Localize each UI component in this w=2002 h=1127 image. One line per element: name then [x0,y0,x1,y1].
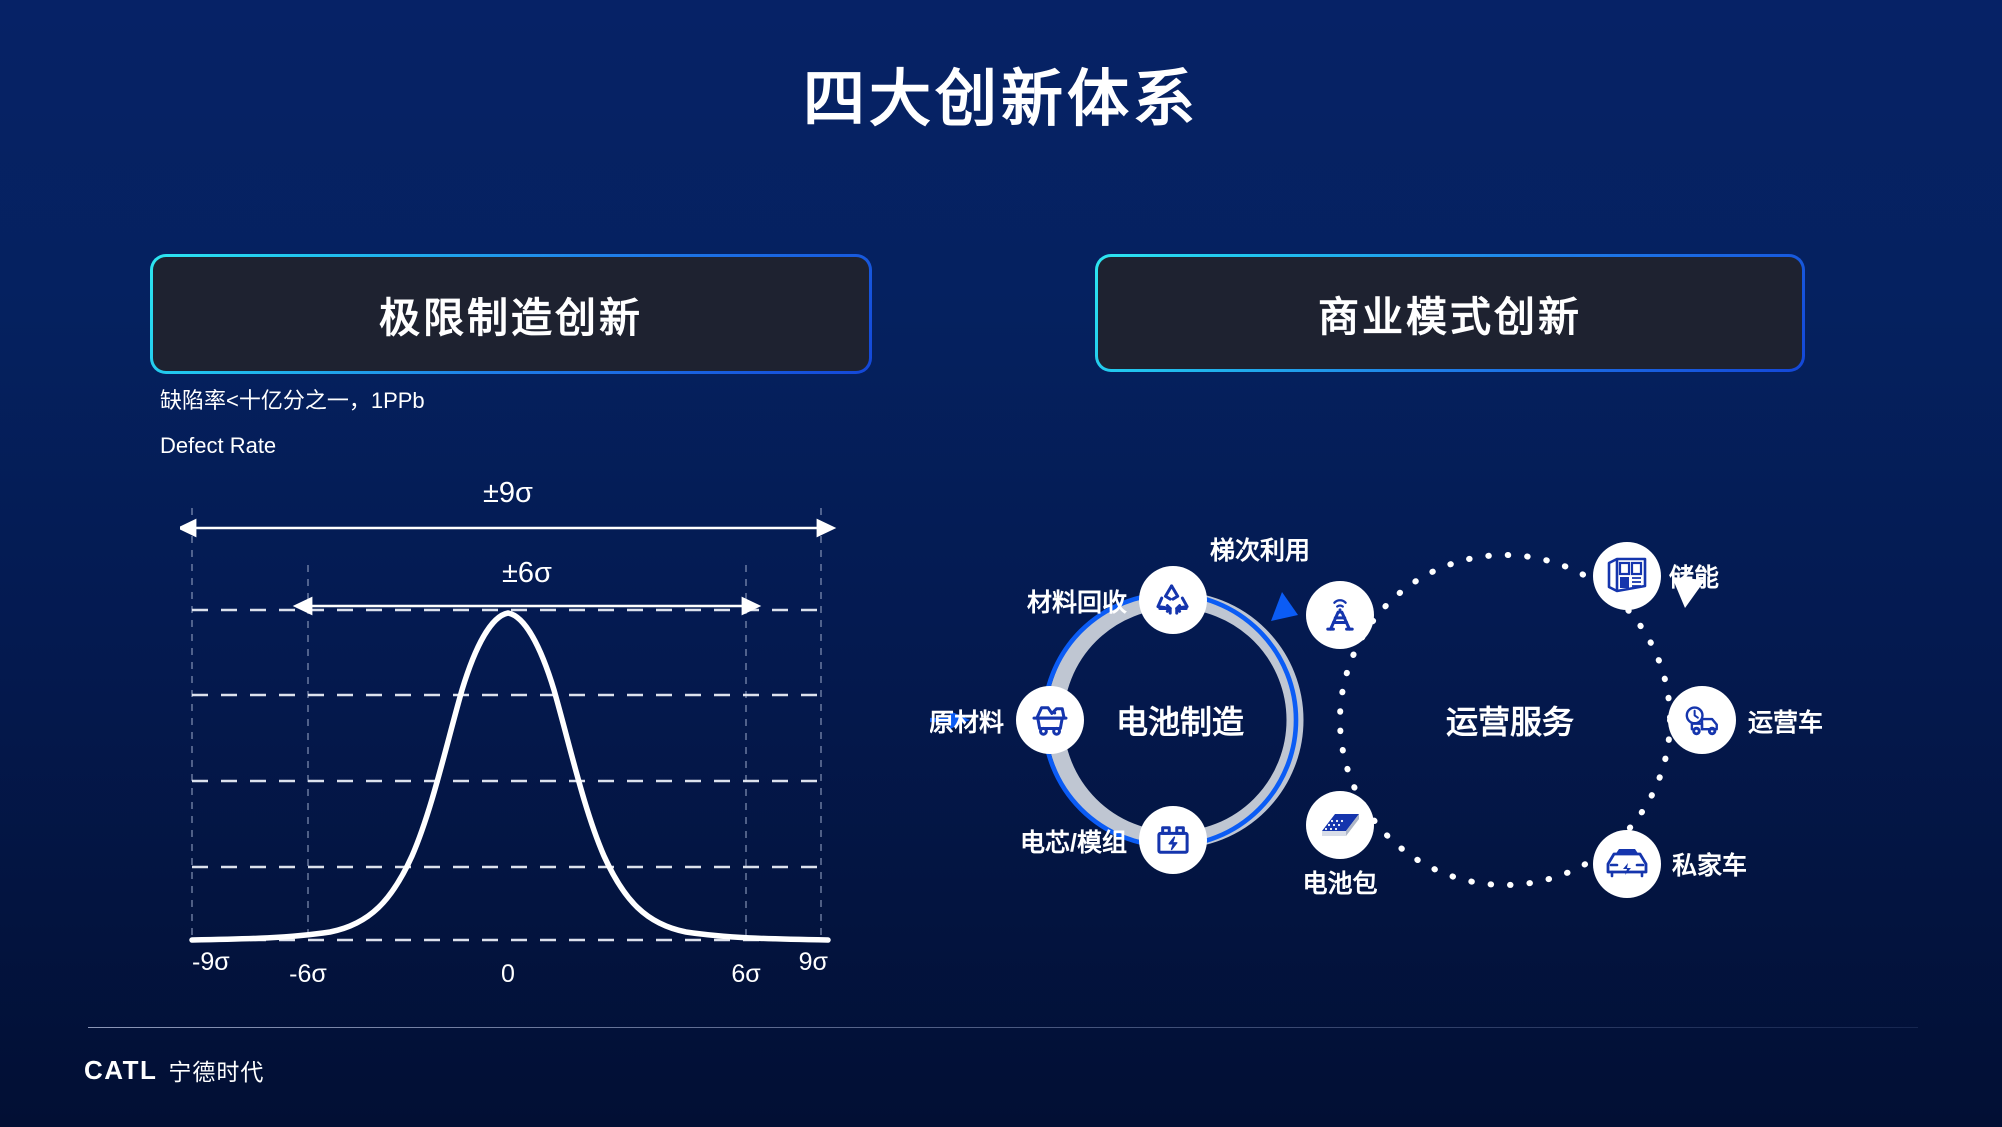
node-private-car-label: 私家车 [1672,851,1747,880]
node-raw-material-label: 原材料 [930,709,1004,737]
label-battery-manufacturing: 电池制造 [1116,704,1244,740]
panel-card-right-title: 商业模式创新 [1318,283,1582,343]
defect-rate-en: Defect Rate [160,435,425,457]
x-tick-zero: 0 [501,960,515,988]
node-energy-storage-label: 储能 [1669,563,1719,592]
node-cascade-use-label: 梯次利用 [1210,537,1310,565]
defect-rate-cn: 缺陷率<十亿分之一，1PPb [160,390,425,412]
node-cascade-use[interactable]: 梯次利用 [1210,537,1374,649]
node-material-recycle-label: 材料回收 [1027,589,1127,617]
battery-lifecycle-diagram: .cn { font-family: "Liberation Sans", sa… [930,520,1940,920]
x-tick-minus6: -6σ [289,960,327,988]
panel-card-left-title: 极限制造创新 [379,284,643,344]
panel-card-extreme-manufacturing[interactable]: 极限制造创新 [150,254,872,374]
footer-divider [88,1027,1918,1028]
node-fleet-vehicle[interactable]: 运营车 [1668,686,1823,754]
annotation-nine-sigma-label: ±9σ [483,477,533,509]
sigma-distribution-chart: ±9σ ±6σ -9σ -6σ 0 6σ 9σ [180,470,840,990]
chart-gridlines [192,610,828,940]
x-tick-minus9: -9σ [192,948,230,976]
catl-logo-cn: 宁德时代 [168,1053,264,1087]
node-battery-pack[interactable]: 电池包 [1302,791,1377,898]
catl-logo: CATL 宁德时代 [84,1053,264,1087]
panel-card-inner: 商业模式创新 [1098,257,1802,369]
node-fleet-vehicle-label: 运营车 [1748,708,1823,737]
manufacturing-ring-arrowhead [1271,592,1298,621]
x-tick-plus9: 9σ [799,948,829,976]
annotation-nine-sigma: ±9σ [194,477,819,528]
node-energy-storage[interactable]: 储能 [1593,542,1719,610]
defect-rate-caption: 缺陷率<十亿分之一，1PPb Defect Rate [160,390,425,457]
label-operation-service: 运营服务 [1446,704,1574,740]
chart-x-tick-labels: -9σ -6σ 0 6σ 9σ [192,948,829,988]
node-cell-module-label: 电芯/模组 [1020,828,1127,857]
node-raw-material[interactable]: 原材料 [930,686,1084,754]
panel-card-inner: 极限制造创新 [153,257,869,371]
annotation-six-sigma-label: ±6σ [502,557,552,589]
catl-logo-en: CATL [84,1055,157,1086]
panel-card-business-model[interactable]: 商业模式创新 [1095,254,1805,372]
page-title: 四大创新体系 [0,48,2002,138]
node-private-car[interactable]: 私家车 [1593,830,1747,898]
x-tick-plus6: 6σ [731,960,761,988]
node-battery-pack-label: 电池包 [1302,869,1377,898]
annotation-six-sigma: ±6σ [310,557,744,606]
bell-curve-path [192,613,828,940]
